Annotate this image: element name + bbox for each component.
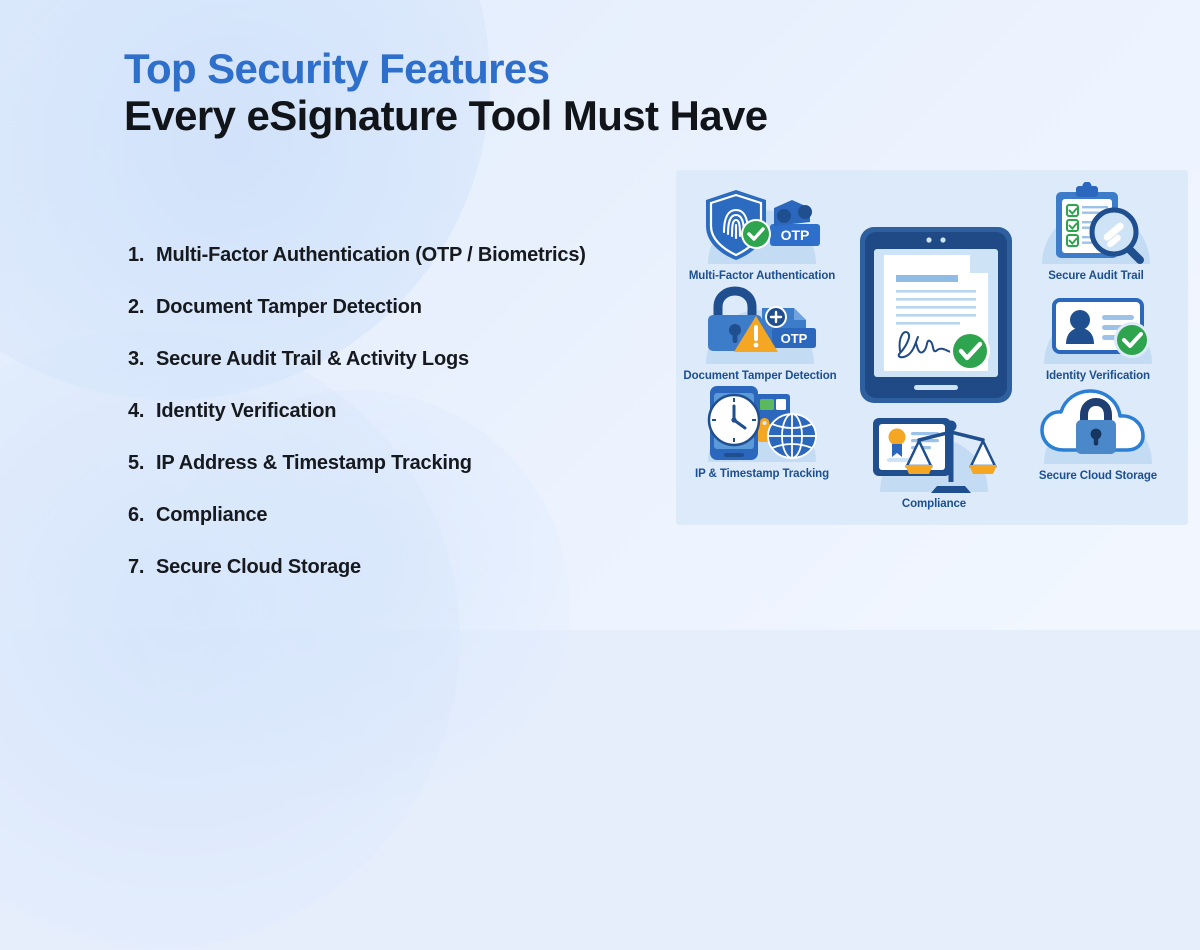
list-item-number: 3. <box>128 348 156 371</box>
list-item-label: Document Tamper Detection <box>156 296 422 319</box>
icon-cell-document-tamper-detection: OTP Document Tamper Detection <box>680 282 840 382</box>
list-item-label: Identity Verification <box>156 400 336 423</box>
icon-cell-identity-verification: Identity Verification <box>1018 282 1178 382</box>
icon-label: Multi-Factor Authentication <box>682 270 842 282</box>
list-item-number: 7. <box>128 556 156 579</box>
clipboard-magnifier-icon <box>1016 182 1176 270</box>
list-item-number: 4. <box>128 400 156 423</box>
list-item: 4. Identity Verification <box>128 400 688 452</box>
list-item: 2. Document Tamper Detection <box>128 296 688 348</box>
list-item-number: 5. <box>128 452 156 475</box>
left-content-column: Top Security Features Every eSignature T… <box>0 0 680 630</box>
list-item-label: Compliance <box>156 504 267 527</box>
list-item-label: IP Address & Timestamp Tracking <box>156 452 472 475</box>
padlock-warning-icon: OTP <box>680 282 840 370</box>
list-item: 6. Compliance <box>128 504 688 556</box>
svg-text:OTP: OTP <box>781 227 810 243</box>
feature-list: 1. Multi-Factor Authentication (OTP / Bi… <box>128 244 688 608</box>
icon-label: IP & Timestamp Tracking <box>682 468 842 480</box>
list-item-number: 2. <box>128 296 156 319</box>
page-title: Top Security Features Every eSignature T… <box>124 46 767 141</box>
list-item-label: Secure Cloud Storage <box>156 556 361 579</box>
shield-fingerprint-icon: OTP <box>682 182 842 270</box>
icon-cell-multi-factor-authentication: OTP Multi-Fact <box>682 182 842 282</box>
list-item-label: Secure Audit Trail & Activity Logs <box>156 348 469 371</box>
certificate-scales-icon <box>854 410 1014 498</box>
svg-text:OTP: OTP <box>781 331 808 346</box>
icon-label: Secure Audit Trail <box>1016 270 1176 282</box>
icon-label: Compliance <box>854 498 1014 510</box>
list-item-number: 1. <box>128 244 156 267</box>
list-item-label: Multi-Factor Authentication (OTP / Biome… <box>156 244 586 267</box>
id-card-check-icon <box>1018 282 1178 370</box>
tablet-signed-document <box>858 225 1014 410</box>
list-item-number: 6. <box>128 504 156 527</box>
phone-clock-globe-icon <box>682 380 842 468</box>
icon-label: Secure Cloud Storage <box>1018 470 1178 482</box>
icon-cell-secure-audit-trail: Secure Audit Trail <box>1016 182 1176 282</box>
title-line-primary: Top Security Features <box>124 46 767 91</box>
title-line-secondary: Every eSignature Tool Must Have <box>124 91 767 141</box>
list-item: 3. Secure Audit Trail & Activity Logs <box>128 348 688 400</box>
illustration-panel: OTP Multi-Fact <box>676 170 1188 525</box>
list-item: 1. Multi-Factor Authentication (OTP / Bi… <box>128 244 688 296</box>
icon-cell-compliance: Compliance <box>854 410 1014 510</box>
icon-label: Identity Verification <box>1018 370 1178 382</box>
list-item: 7. Secure Cloud Storage <box>128 556 688 608</box>
icon-cell-secure-cloud-storage: Secure Cloud Storage <box>1018 382 1178 482</box>
cloud-padlock-icon <box>1018 382 1178 470</box>
icon-cell-ip-timestamp-tracking: IP & Timestamp Tracking <box>682 380 842 480</box>
list-item: 5. IP Address & Timestamp Tracking <box>128 452 688 504</box>
